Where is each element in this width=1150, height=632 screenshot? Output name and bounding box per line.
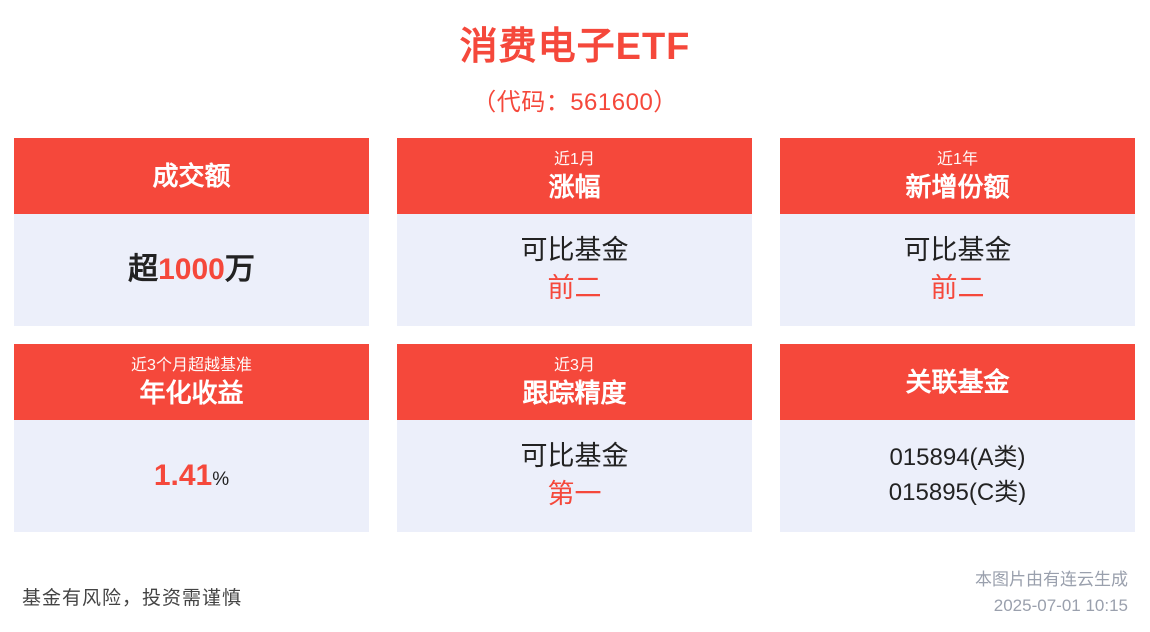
card-title: 成交额 <box>152 160 230 193</box>
metric-card-turnover: 成交额 超1000万 <box>14 138 369 326</box>
fund-code: （代码：561600） <box>0 82 1150 117</box>
peer-rank: 第一 <box>548 476 602 514</box>
turnover-value: 超1000万 <box>128 249 255 291</box>
metric-card-1y-shares: 近1年 新增份额 可比基金 前二 <box>780 138 1135 326</box>
card-body: 可比基金 前二 <box>397 214 752 326</box>
peer-label: 可比基金 <box>904 232 1012 270</box>
card-subtitle: 近3月 <box>554 355 595 377</box>
return-number: 1.41 <box>154 459 212 492</box>
card-title: 年化收益 <box>139 377 243 410</box>
related-fund-a: 015894(A类) <box>889 441 1025 476</box>
turnover-suffix: 万 <box>225 253 255 286</box>
card-title: 新增份额 <box>905 171 1009 204</box>
footer-source: 本图片由有连云生成 2025-07-01 10:15 <box>975 567 1128 618</box>
metric-card-related-funds: 关联基金 015894(A类) 015895(C类) <box>780 344 1135 532</box>
peer-label: 可比基金 <box>521 438 629 476</box>
card-subtitle: 近1月 <box>554 149 595 171</box>
etf-infographic: 消费电子ETF （代码：561600） 成交额 超1000万 近1月 涨幅 可比… <box>0 0 1150 632</box>
card-subtitle: 近1年 <box>937 149 978 171</box>
card-body: 可比基金 前二 <box>780 214 1135 326</box>
card-header: 近3月 跟踪精度 <box>397 344 752 420</box>
risk-disclaimer: 基金有风险，投资需谨慎 <box>22 583 242 610</box>
card-header: 近1年 新增份额 <box>780 138 1135 214</box>
source-text: 本图片由有连云生成 <box>975 567 1128 593</box>
card-title: 跟踪精度 <box>522 377 626 410</box>
card-header: 成交额 <box>14 138 369 214</box>
peer-label: 可比基金 <box>521 232 629 270</box>
header: 消费电子ETF （代码：561600） <box>0 0 1150 117</box>
card-subtitle: 近3个月超越基准 <box>131 355 252 377</box>
turnover-number: 1000 <box>158 253 225 286</box>
related-fund-c: 015895(C类) <box>889 476 1026 511</box>
return-unit: % <box>212 469 229 490</box>
page-title: 消费电子ETF <box>0 24 1150 72</box>
metric-card-annualized-excess-return: 近3个月超越基准 年化收益 1.41% <box>14 344 369 532</box>
turnover-prefix: 超 <box>128 253 158 286</box>
card-body: 1.41% <box>14 420 369 532</box>
card-title: 涨幅 <box>548 171 600 204</box>
card-header: 关联基金 <box>780 344 1135 420</box>
card-body: 可比基金 第一 <box>397 420 752 532</box>
metric-card-1m-gain: 近1月 涨幅 可比基金 前二 <box>397 138 752 326</box>
card-body: 超1000万 <box>14 214 369 326</box>
card-header: 近3个月超越基准 年化收益 <box>14 344 369 420</box>
metric-card-tracking-accuracy: 近3月 跟踪精度 可比基金 第一 <box>397 344 752 532</box>
card-header: 近1月 涨幅 <box>397 138 752 214</box>
card-title: 关联基金 <box>905 366 1009 399</box>
timestamp: 2025-07-01 10:15 <box>975 593 1128 619</box>
peer-rank: 前二 <box>931 270 985 308</box>
annualized-return-value: 1.41% <box>154 455 229 497</box>
peer-rank: 前二 <box>548 270 602 308</box>
card-body: 015894(A类) 015895(C类) <box>780 420 1135 532</box>
metric-card-grid: 成交额 超1000万 近1月 涨幅 可比基金 前二 近1年 新增份额 <box>14 138 1136 532</box>
